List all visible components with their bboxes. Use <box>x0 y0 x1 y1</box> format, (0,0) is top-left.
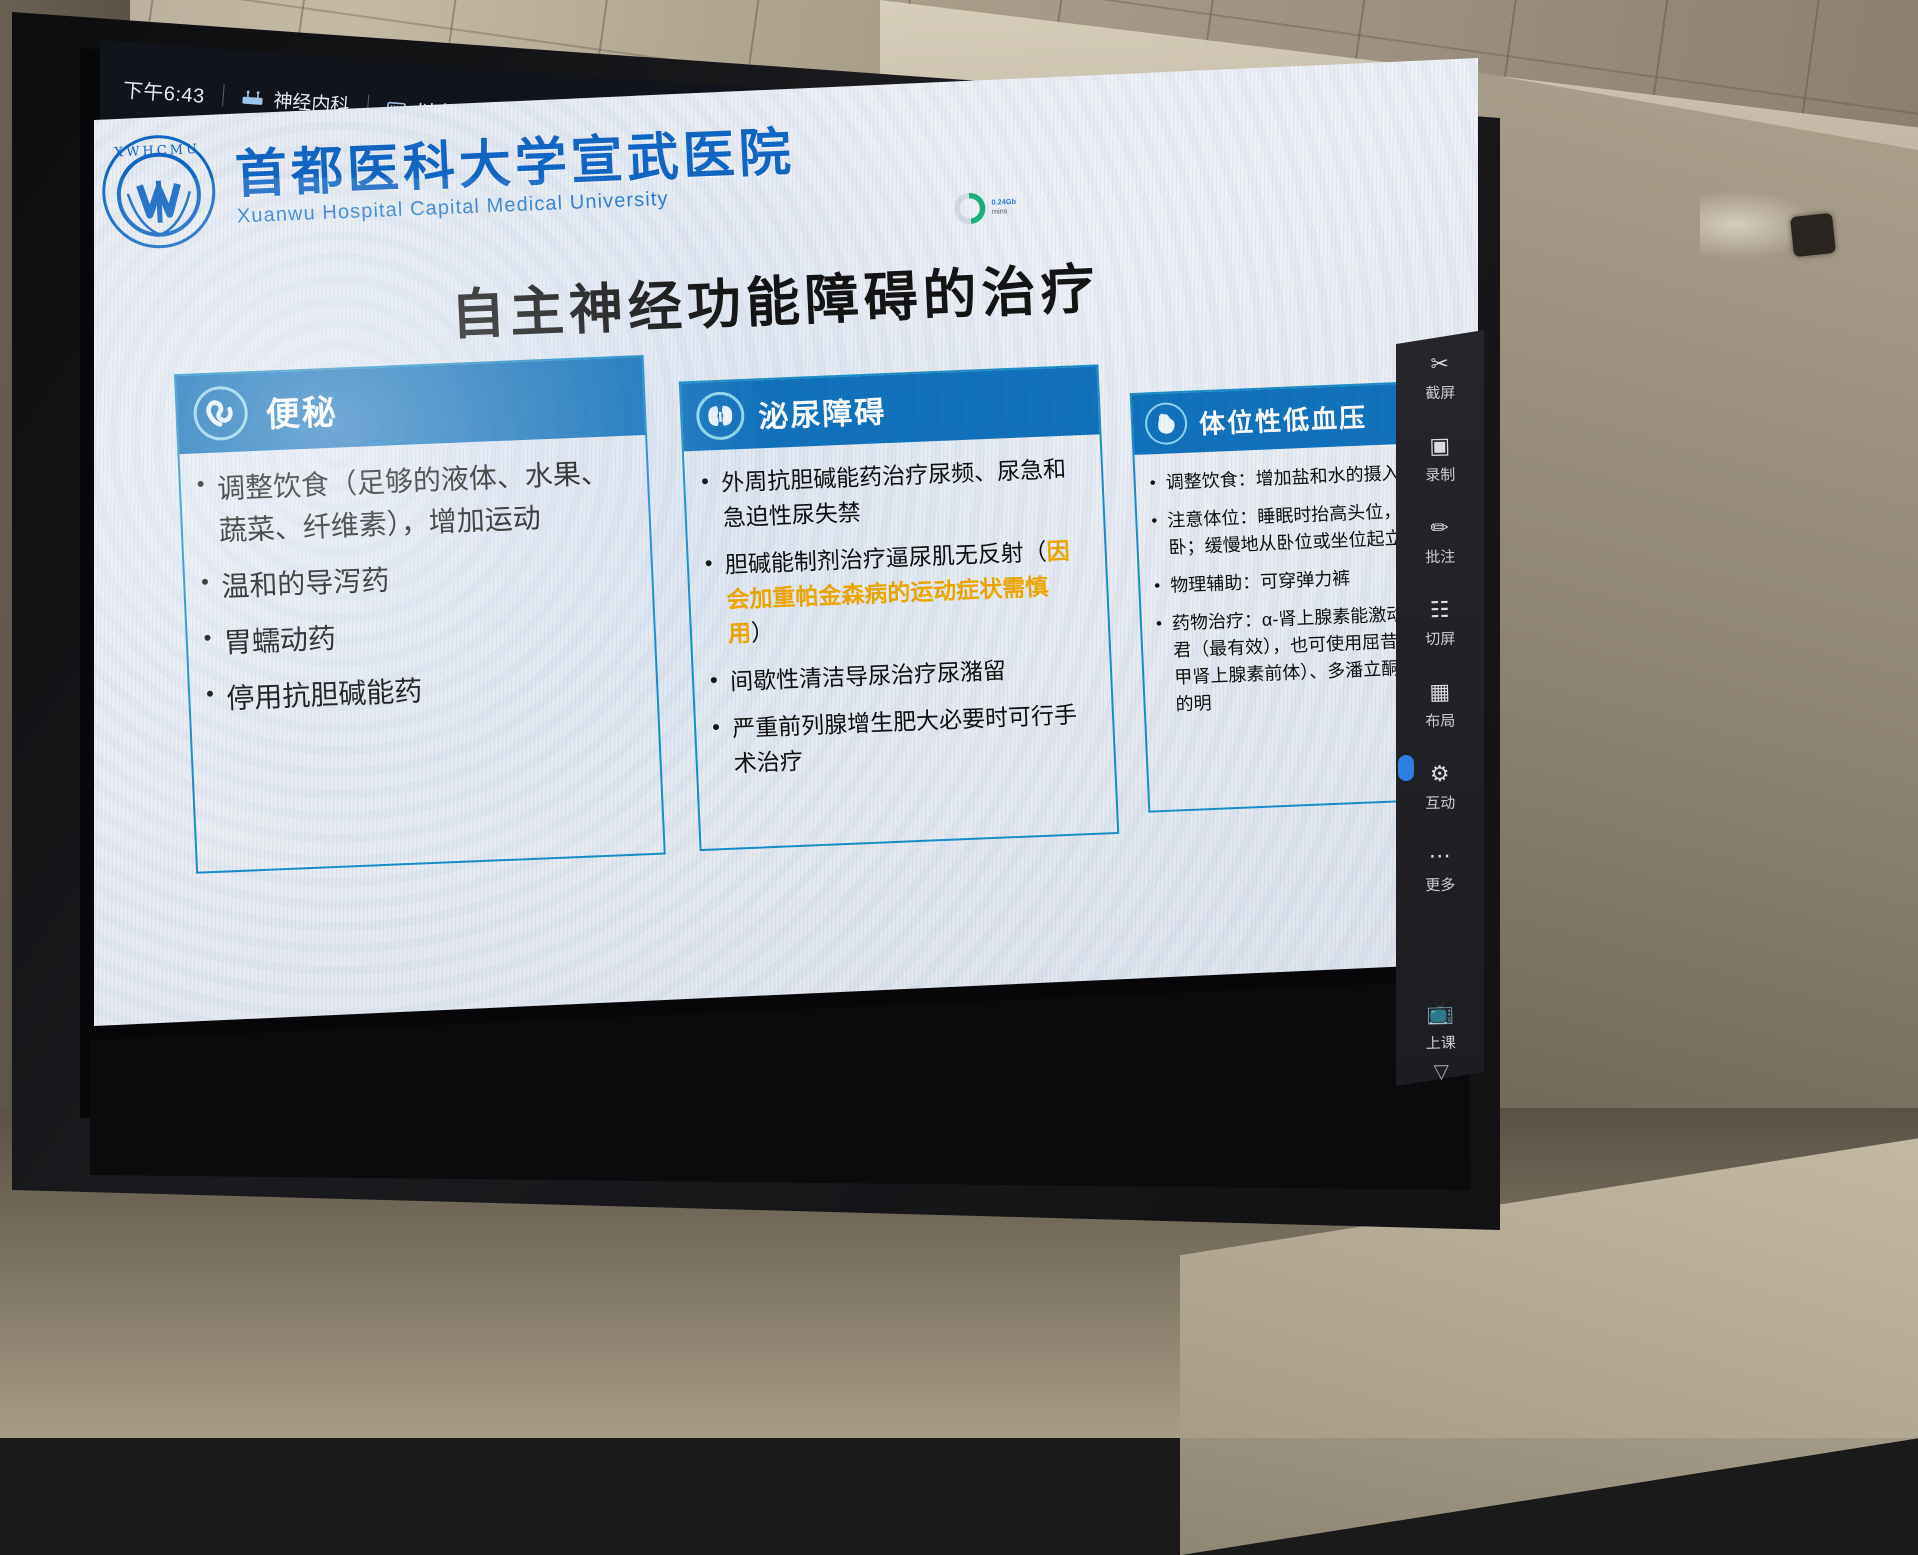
record-icon: ▣ <box>1429 435 1450 457</box>
list-item-highlighted: 胆碱能制剂治疗逼尿肌无反射（因会加重帕金森病的运动症状需慎用） <box>698 533 1094 652</box>
toolbar-item-label: 截屏 <box>1425 382 1455 404</box>
scissors-icon: ✂ <box>1430 353 1449 375</box>
toolbar-item-screenshot[interactable]: ✂ 截屏 <box>1391 335 1489 421</box>
list-item: 胃蠕动药 <box>197 605 640 665</box>
clock: 下午6:43 <box>122 73 206 108</box>
card-urinary-dysfunction: 泌尿障碍 外周抗胆碱能药治疗尿频、尿急和急迫性尿失禁 胆碱能制剂治疗逼尿肌无反射… <box>679 364 1120 851</box>
badge-stats: 0.24Gb mins <box>991 197 1016 216</box>
layout-icon: ▦ <box>1429 681 1450 703</box>
badge-value: 0.24Gb <box>991 197 1016 206</box>
hospital-name-block: 首都医科大学宣武医院 Xuanwu Hospital Capital Medic… <box>234 126 797 228</box>
toolbar-bottom-label: 上课 <box>1426 1032 1456 1054</box>
interactive-whiteboard[interactable]: 下午6:43 神经内科 以太网 IP:192.168.1.100 <box>0 0 1530 1438</box>
kidney-icon <box>695 391 745 441</box>
toolbar-item-label: 布局 <box>1425 710 1455 732</box>
class-icon: 📺 <box>1426 1000 1454 1027</box>
slide-content: XWHCMU 首都医科大学宣武医院 Xuanwu Hospital Capita… <box>64 1 1507 1057</box>
svg-text:XWHCMU: XWHCMU <box>114 142 201 161</box>
more-dots-icon: ⋯ <box>1428 845 1450 867</box>
toolbar-item-label: 录制 <box>1425 464 1455 486</box>
ceiling-speaker <box>1790 213 1836 257</box>
card-title: 便秘 <box>265 384 339 436</box>
toolbar-item-label: 批注 <box>1425 546 1455 568</box>
hospital-seal-logo: XWHCMU <box>95 130 222 253</box>
grid-icon: ☷ <box>1430 599 1450 621</box>
list-item: 停用抗胆碱能药 <box>200 661 643 721</box>
list-item: 温和的导泻药 <box>195 549 638 609</box>
divider <box>222 84 225 106</box>
toolbar-item-record[interactable]: ▣ 录制 <box>1391 417 1489 503</box>
text-prefix: 胆碱能制剂治疗逼尿肌无反射（ <box>724 539 1047 578</box>
list-item: 调整饮食（足够的液体、水果、蔬菜、纤维素），增加运动 <box>190 452 635 554</box>
list-item: 严重前列腺增生肥大必要时可行手术治疗 <box>705 697 1100 782</box>
cards-container: 便秘 调整饮食（足够的液体、水果、蔬菜、纤维素），增加运动 温和的导泻药 胃蠕动… <box>78 321 1502 938</box>
toolbar-item-label: 更多 <box>1425 874 1455 896</box>
toolbar-item-more[interactable]: ⋯ 更多 <box>1391 827 1489 913</box>
bullet-list: 外周抗胆碱能药治疗尿频、尿急和急迫性尿失禁 胆碱能制剂治疗逼尿肌无反射（因会加重… <box>695 451 1101 782</box>
chevron-down-icon[interactable]: ▽ <box>1433 1059 1449 1084</box>
toolbar-drag-handle[interactable] <box>1398 755 1414 781</box>
bullet-list: 调整饮食（足够的液体、水果、蔬菜、纤维素），增加运动 温和的导泻药 胃蠕动药 停… <box>190 452 643 722</box>
router-icon <box>241 89 264 107</box>
list-item: 外周抗胆碱能药治疗尿频、尿急和急迫性尿失禁 <box>695 451 1090 536</box>
card-body: 外周抗胆碱能药治疗尿频、尿急和急迫性尿失禁 胆碱能制剂治疗逼尿肌无反射（因会加重… <box>684 434 1115 805</box>
toolbar-item-layout[interactable]: ▦ 布局 <box>1391 663 1489 749</box>
toolbar-item-label: 互动 <box>1425 792 1455 814</box>
interact-icon: ⚙ <box>1430 763 1450 785</box>
toolbar-item-annotate[interactable]: ✏ 批注 <box>1391 499 1489 585</box>
card-body: 调整饮食（足够的液体、水果、蔬菜、纤维素），增加运动 温和的导泻药 胃蠕动药 停… <box>179 435 658 746</box>
toolbar-item-label: 切屏 <box>1425 628 1455 650</box>
card-title: 泌尿障碍 <box>757 387 887 436</box>
pen-icon: ✏ <box>1430 517 1449 539</box>
toolbar-class-section[interactable]: 📺 上课 ▽ <box>1394 999 1488 1111</box>
badge-label: mins <box>992 207 1017 217</box>
progress-percent: 49% <box>961 204 978 214</box>
stomach-icon <box>1144 402 1188 446</box>
presentation-progress-badge: 49% 0.24Gb mins <box>953 191 1017 225</box>
card-constipation: 便秘 调整饮食（足够的液体、水果、蔬菜、纤维素），增加运动 温和的导泻药 胃蠕动… <box>174 355 666 874</box>
intestine-icon <box>193 385 249 441</box>
card-title: 体位性低血压 <box>1198 397 1368 441</box>
hospital-branding: XWHCMU 首都医科大学宣武医院 Xuanwu Hospital Capita… <box>95 107 798 254</box>
text-suffix: ） <box>750 619 774 646</box>
list-item: 间歇性清洁导尿治疗尿潴留 <box>703 649 1096 700</box>
toolbar-item-split-screen[interactable]: ☷ 切屏 <box>1391 581 1489 667</box>
presentation-slide[interactable]: XWHCMU 首都医科大学宣武医院 Xuanwu Hospital Capita… <box>86 58 1486 1058</box>
progress-ring: 49% <box>953 192 986 225</box>
